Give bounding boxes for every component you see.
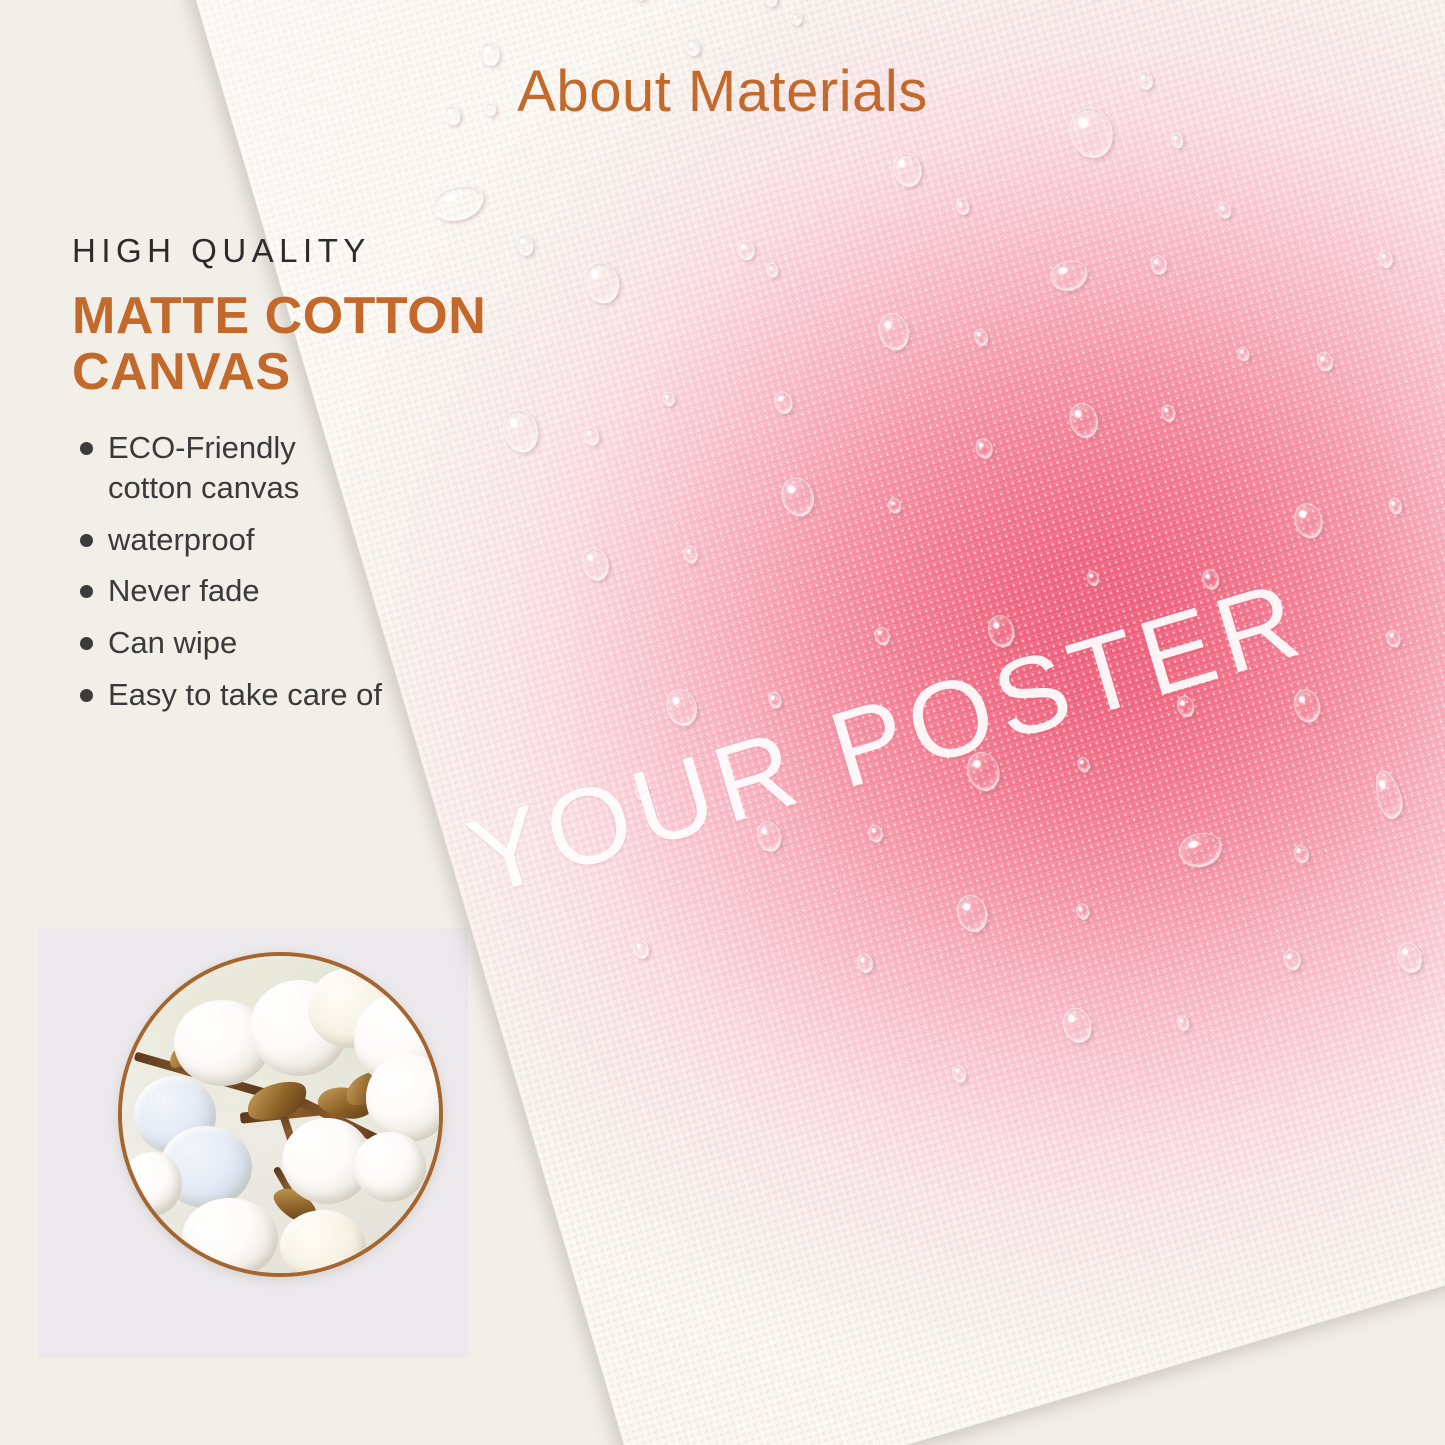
material-headline-line1: MATTE COTTON [72,288,592,344]
bullet-dot-icon [80,442,93,455]
bullet-dot-icon [80,689,93,702]
bullet-dot-icon [80,637,93,650]
list-item: Never fade [72,571,592,611]
infographic-root: YOUR POSTER About Materials HIGH QUALITY… [0,0,1445,1445]
bullet-dot-icon [80,585,93,598]
material-headline: MATTE COTTON CANVAS [72,288,592,400]
list-item-label: ECO-Friendly cotton canvas [108,430,299,505]
list-item-label: Never fade [108,573,260,608]
cotton-boll [366,1054,443,1142]
cotton-boll [354,1132,426,1202]
list-item: waterproof [72,520,592,560]
list-item: ECO-Friendly cotton canvas [72,428,332,507]
cotton-boll [122,1152,182,1216]
eyebrow-label: HIGH QUALITY [72,232,592,270]
list-item-label: Easy to take care of [108,677,382,712]
feature-list: ECO-Friendly cotton canvas waterproof Ne… [72,428,592,714]
bullet-dot-icon [80,534,93,547]
cotton-bolls-image [122,956,439,1273]
info-block: HIGH QUALITY MATTE COTTON CANVAS ECO-Fri… [72,232,592,726]
list-item: Can wipe [72,623,592,663]
list-item-label: waterproof [108,522,254,557]
page-title: About Materials [0,58,1445,125]
list-item-label: Can wipe [108,625,237,660]
cotton-boll [280,1210,366,1277]
list-item: Easy to take care of [72,675,592,715]
cotton-photo-inset [118,952,443,1277]
cotton-boll [182,1198,278,1277]
material-headline-line2: CANVAS [72,344,592,400]
